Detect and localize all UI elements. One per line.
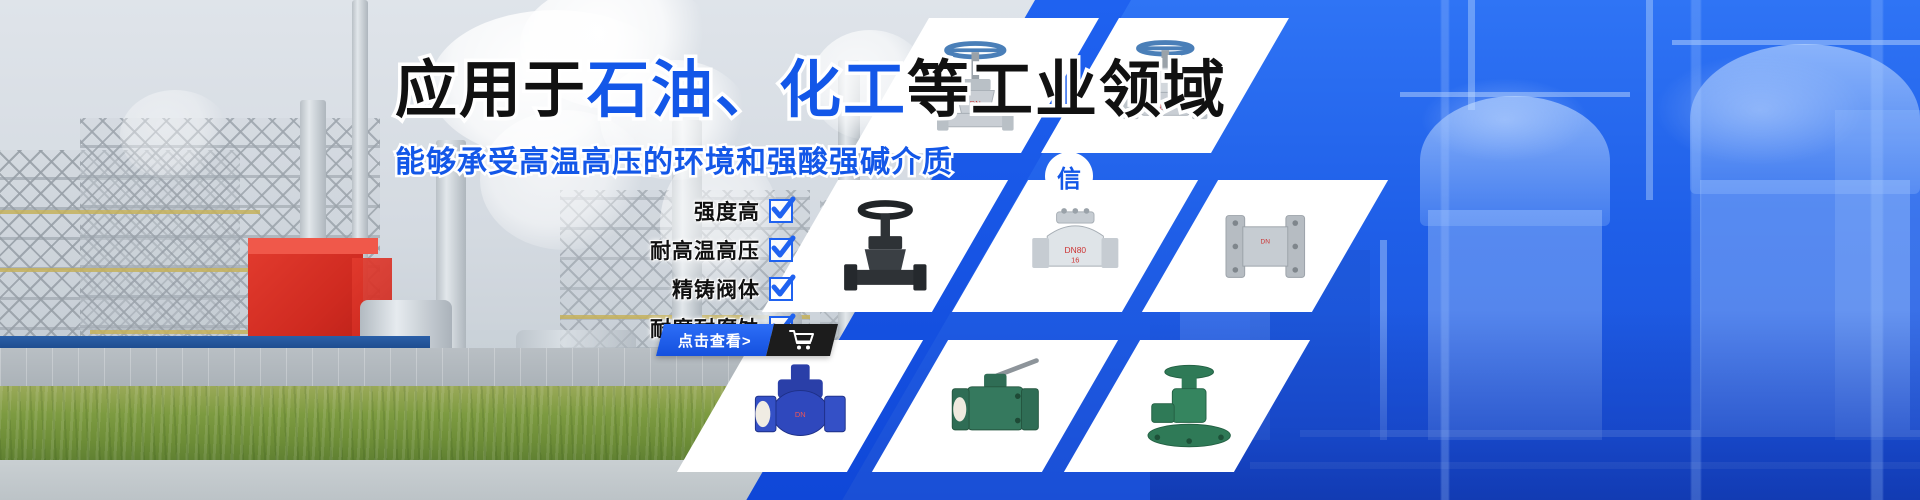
shopping-cart-icon xyxy=(789,329,815,351)
feature-item-precision-cast-body: 精铸阀体 xyxy=(672,274,793,304)
feature-item-high-temp-pressure: 耐高温高压 xyxy=(650,235,793,265)
checkbox-checked[interactable] xyxy=(769,199,793,223)
cast-iron-gate-valve-icon xyxy=(819,195,952,298)
feature-label: 强度高 xyxy=(694,196,760,226)
flanged-check-valve-icon: DN xyxy=(1199,195,1332,298)
checkbox-checked[interactable] xyxy=(769,277,793,301)
flanged-plug-valve-green-icon xyxy=(1121,355,1254,458)
checkbox-checked[interactable] xyxy=(769,238,793,262)
headline-part-3: 等工业领域 xyxy=(907,56,1227,125)
cta-cart-area[interactable] xyxy=(766,324,838,356)
cta-label-area[interactable]: 点击查看> xyxy=(656,324,774,356)
feature-item-strength: 强度高 xyxy=(694,196,793,226)
feature-label: 耐高温高压 xyxy=(650,235,760,265)
feature-label: 精铸阀体 xyxy=(672,274,760,304)
cta-label: 点击查看> xyxy=(678,330,752,351)
check-icon xyxy=(768,194,798,224)
svg-text:DN: DN xyxy=(795,409,806,418)
svg-text:DN80: DN80 xyxy=(1064,245,1086,255)
banner-copy: 应用于石油、化工等工业领域 能够承受高温高压的环境和强酸强碱介质 xyxy=(395,58,1115,181)
feature-list: 强度高 耐高温高压 精铸阀体 耐磨耐腐蚀 xyxy=(650,196,793,343)
lined-ball-valve-blue-icon: DN xyxy=(734,355,867,458)
svg-text:DN: DN xyxy=(1260,238,1270,245)
promo-banner: 信 DN xyxy=(0,0,1920,500)
check-icon xyxy=(768,233,798,263)
svg-text:16: 16 xyxy=(1071,255,1079,264)
swing-check-valve-icon: DN80 16 xyxy=(1009,195,1142,298)
page-subtitle: 能够承受高温高压的环境和强酸强碱介质 xyxy=(395,137,1115,181)
cta-button[interactable]: 点击查看> xyxy=(656,324,838,356)
headline-part-2-accent: 石油、化工 xyxy=(587,56,907,125)
page-title: 应用于石油、化工等工业领域 xyxy=(395,58,1115,123)
headline-part-1: 应用于 xyxy=(395,56,587,125)
lever-ball-valve-green-icon xyxy=(929,355,1062,458)
check-icon xyxy=(768,272,798,302)
